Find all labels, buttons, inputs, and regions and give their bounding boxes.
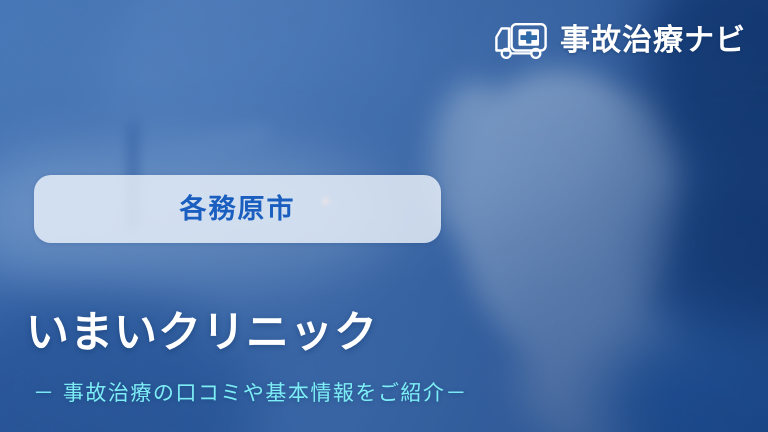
city-badge-label: 各務原市: [180, 196, 296, 223]
city-badge: 各務原市: [34, 175, 441, 243]
clinic-hero-banner: 事故治療ナビ 各務原市 いまいクリニック － 事故治療の口コミや基本情報をご紹介…: [0, 0, 768, 432]
banner-subtitle: － 事故治療の口コミや基本情報をご紹介－: [33, 381, 468, 406]
clinic-name-title: いまいクリニック: [26, 309, 378, 358]
site-logo-text: 事故治療ナビ: [560, 26, 746, 56]
site-logo[interactable]: 事故治療ナビ: [493, 20, 746, 62]
ambulance-icon: [493, 20, 549, 62]
